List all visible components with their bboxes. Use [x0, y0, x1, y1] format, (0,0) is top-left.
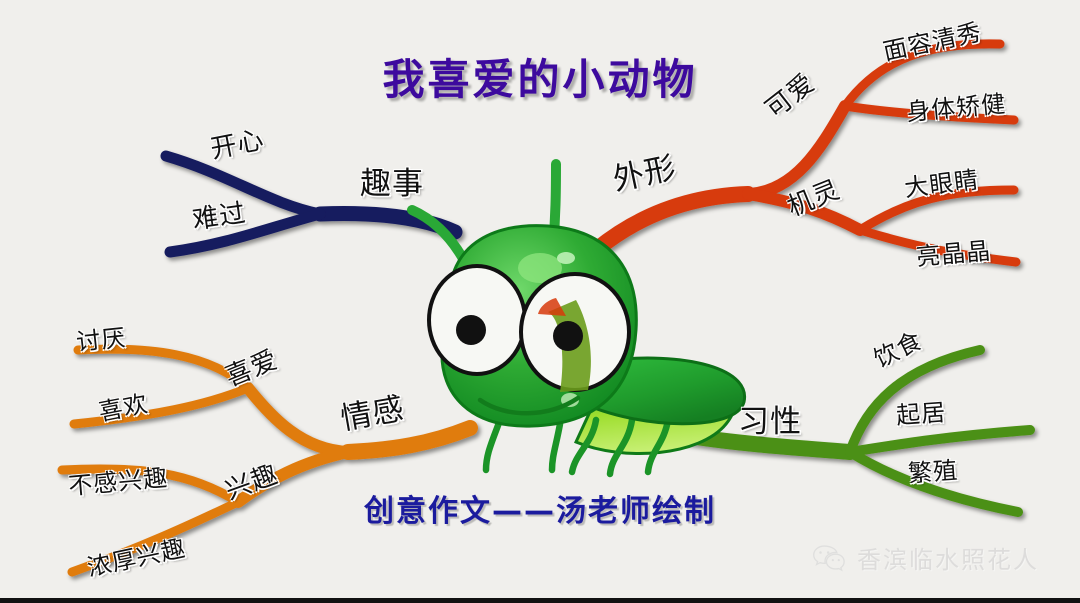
node-label-sparkling[interactable]: 亮晶晶 — [915, 231, 993, 272]
branch-label-stories[interactable]: 趣事 — [360, 158, 424, 203]
drawing-caption: 创意作文——汤老师绘制 — [0, 486, 1080, 530]
node-label-daily-life[interactable]: 起居 — [895, 392, 947, 430]
node-label-dislike[interactable]: 讨厌 — [74, 317, 127, 357]
branch-label-habits[interactable]: 习性 — [738, 396, 802, 441]
node-label-sad[interactable]: 难过 — [190, 192, 249, 236]
mindmap-canvas: 我喜爱的小动物 趣事 开心 难过 外形 可爱 面容清秀 身体矫健 机灵 大眼睛 … — [0, 0, 1080, 603]
watermark: 香滨临水照花人 — [812, 540, 1039, 575]
node-label-reproduction[interactable]: 繁殖 — [907, 450, 959, 488]
watermark-text: 香滨临水照花人 — [857, 540, 1039, 575]
wechat-icon — [812, 544, 846, 572]
bottom-bar — [0, 598, 1080, 603]
